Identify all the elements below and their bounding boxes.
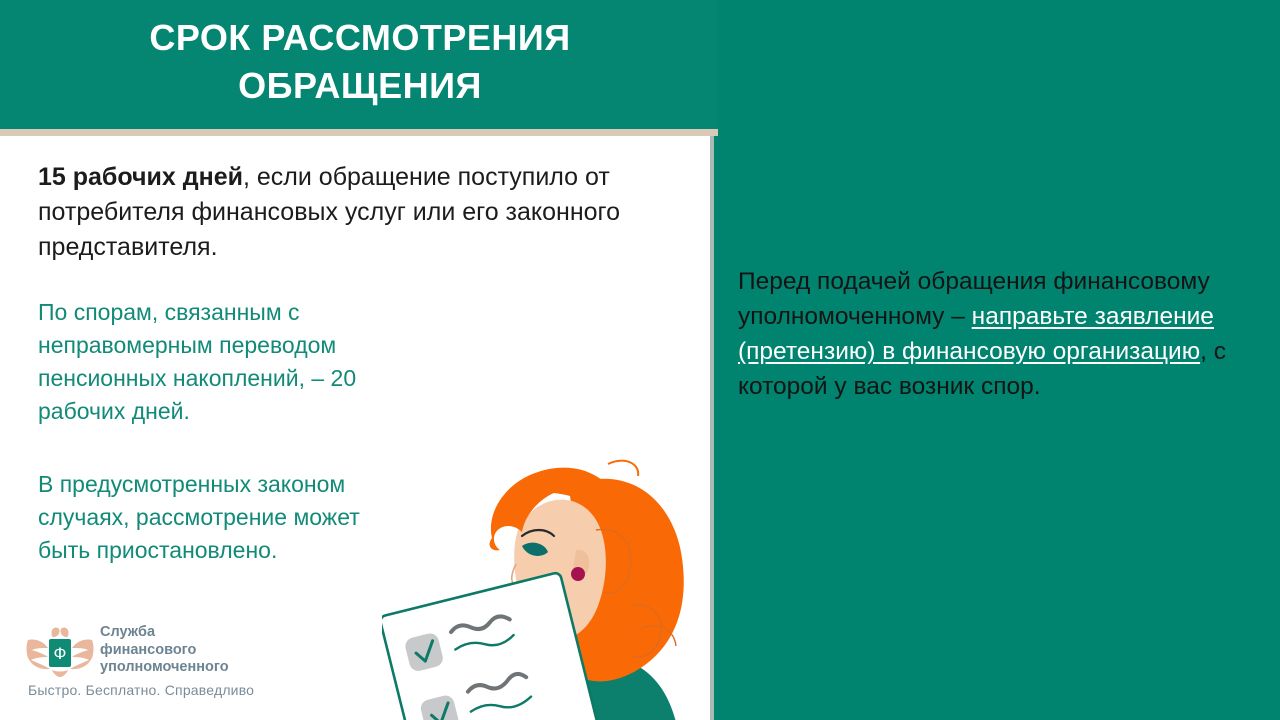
eagle-emblem-icon: Ф xyxy=(26,626,94,678)
page-title: СРОК РАССМОТРЕНИЯ ОБРАЩЕНИЯ xyxy=(60,14,660,110)
head-left xyxy=(51,627,59,637)
lead-paragraph: 15 рабочих дней, если обращение поступил… xyxy=(38,160,686,265)
illustration-woman-reading-checklist xyxy=(382,434,712,720)
hair-wisp xyxy=(608,461,638,476)
logo-tagline-text: Быстро. Бесплатно. Справедливо xyxy=(28,682,254,698)
wing-right xyxy=(70,639,94,669)
body-paragraph-1: По спорам, связанным с неправомерным пер… xyxy=(38,296,388,428)
logo-name-text: Служба финансового уполномоченного xyxy=(100,624,229,677)
body-paragraph-2: В предусмотренных законом случаях, рассм… xyxy=(38,468,388,567)
tail-shape xyxy=(52,670,68,677)
earring-shape xyxy=(571,567,585,581)
right-panel-text: Перед подачей обращения финансовому упол… xyxy=(738,264,1243,404)
wing-left xyxy=(27,639,51,669)
head-right xyxy=(61,627,69,637)
shield-letter: Ф xyxy=(54,644,67,663)
slide-root: СРОК РАССМОТРЕНИЯ ОБРАЩЕНИЯ 15 рабочих д… xyxy=(0,0,1280,720)
content-card: 15 рабочих дней, если обращение поступил… xyxy=(0,136,714,720)
organization-logo: Ф Служба финансового уполномоченного Быс… xyxy=(26,624,276,704)
lead-bold-term: 15 рабочих дней xyxy=(38,163,243,191)
header-divider xyxy=(0,129,718,136)
